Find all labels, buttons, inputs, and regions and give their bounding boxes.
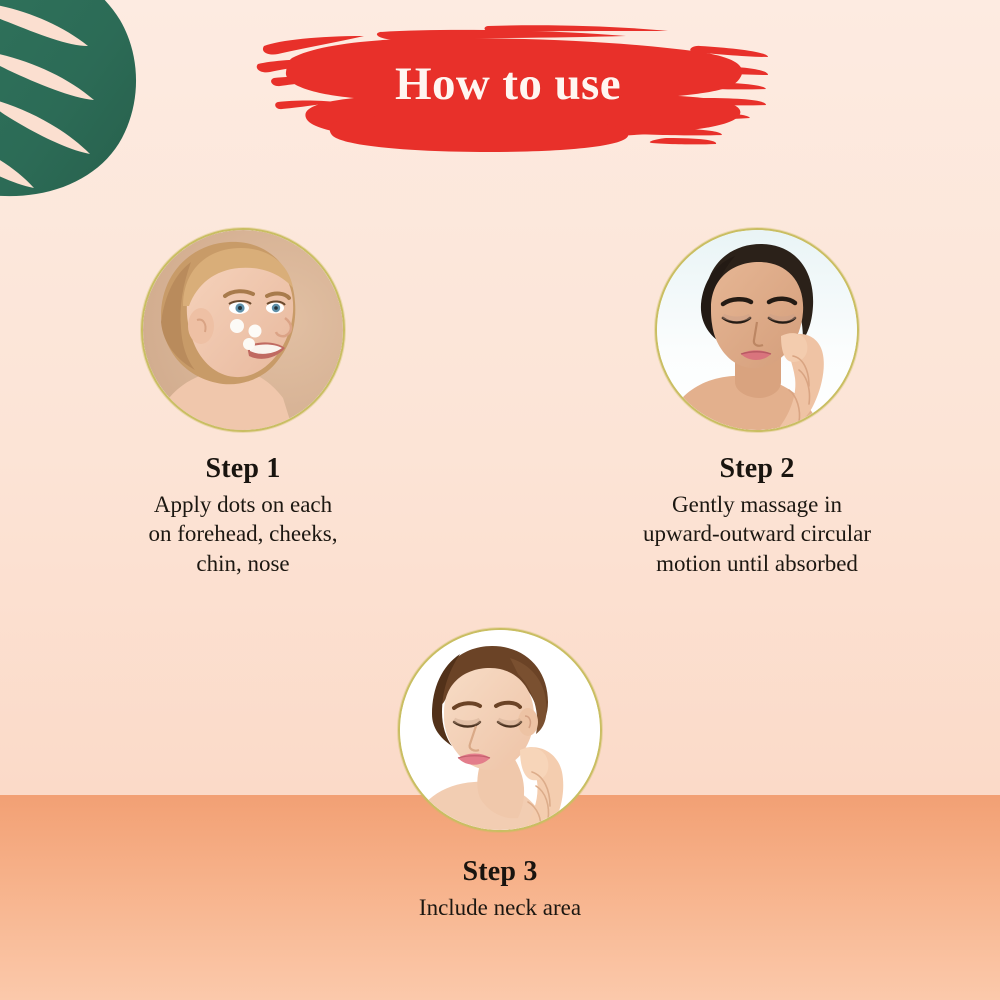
monstera-leaf-icon [0,0,154,198]
step-2-photo [655,228,859,432]
woman-applying-cream-to-neck-image [400,630,600,830]
step-1-description: Apply dots on each on forehead, cheeks, … [43,490,443,578]
how-to-use-infographic: How to use [0,0,1000,1000]
step-3-description: Include neck area [300,893,700,922]
step-card-1: Step 1 Apply dots on each on forehead, c… [43,228,443,578]
step-card-2: Step 2 Gently massage in upward-outward … [557,228,957,578]
step-3-title: Step 3 [300,857,700,888]
step-2-title: Step 2 [557,454,957,485]
title-banner: How to use [248,18,768,158]
step-card-3: Step 3 Include neck area [300,628,700,922]
woman-massaging-cheek-image [657,230,857,430]
step-1-title: Step 1 [43,454,443,485]
step-2-description: Gently massage in upward-outward circula… [557,490,957,578]
step-3-photo [398,628,602,832]
step-1-photo [141,228,345,432]
woman-applying-cream-dots-image [143,230,343,430]
page-title: How to use [248,18,768,158]
